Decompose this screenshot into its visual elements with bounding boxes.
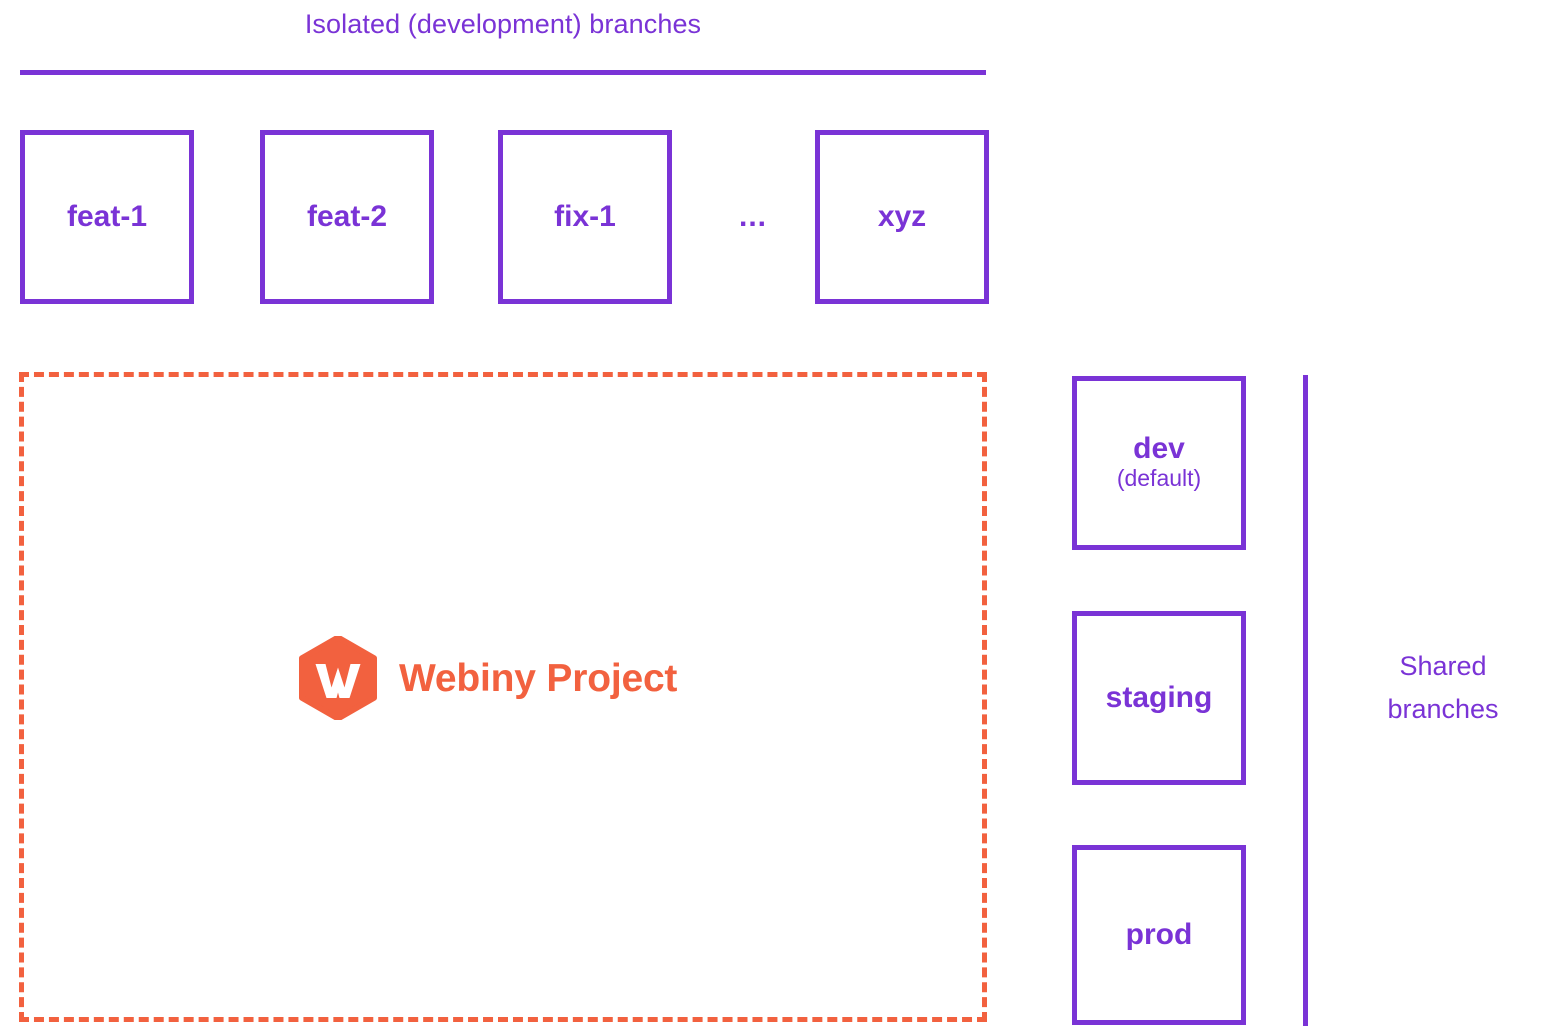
- isolated-branch-box[interactable]: fix-1: [498, 130, 672, 304]
- webiny-project-name: Webiny Project: [399, 659, 677, 698]
- isolated-branch-box[interactable]: feat-1: [20, 130, 194, 304]
- branch-label: feat-1: [67, 202, 147, 232]
- shared-branch-box-dev[interactable]: dev (default): [1072, 376, 1246, 550]
- shared-branches-caption: Shared branches: [1338, 645, 1548, 731]
- branch-label: prod: [1126, 920, 1193, 950]
- branch-sub-label: (default): [1117, 466, 1201, 491]
- diagram-canvas: Isolated (development) branches feat-1 f…: [0, 0, 1564, 1032]
- isolated-branches-divider: [20, 70, 986, 75]
- shared-branches-divider: [1303, 375, 1308, 1026]
- shared-caption-line-1: Shared: [1338, 645, 1548, 688]
- isolated-branch-box[interactable]: feat-2: [260, 130, 434, 304]
- branch-label: fix-1: [554, 202, 616, 232]
- branch-label: staging: [1106, 683, 1213, 713]
- isolated-branches-title: Isolated (development) branches: [20, 8, 986, 40]
- branch-label: dev: [1133, 434, 1185, 464]
- webiny-hexagon-logo-icon: [298, 636, 378, 720]
- webiny-project-brand: Webiny Project: [298, 636, 677, 720]
- shared-branch-box-prod[interactable]: prod: [1072, 845, 1246, 1025]
- branch-label: feat-2: [307, 202, 387, 232]
- shared-branch-box-staging[interactable]: staging: [1072, 611, 1246, 785]
- shared-caption-line-2: branches: [1338, 688, 1548, 731]
- isolated-branch-box[interactable]: xyz: [815, 130, 989, 304]
- branches-ellipsis: ...: [718, 130, 788, 304]
- branch-label: xyz: [878, 202, 926, 232]
